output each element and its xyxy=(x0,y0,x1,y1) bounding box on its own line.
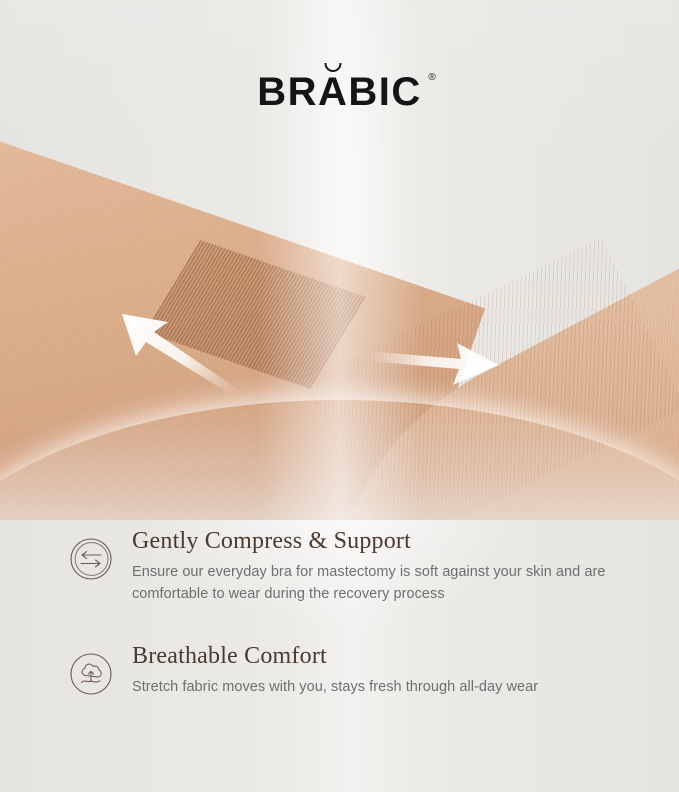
feature-description: Ensure our everyday bra for mastectomy i… xyxy=(132,561,639,605)
logo-accent-letter: A xyxy=(318,72,348,112)
product-feature-image: BRABIC® Gently Compress & Support Ensure… xyxy=(0,0,679,792)
registered-trademark-icon: ® xyxy=(428,73,435,83)
logo-text-part1: BR xyxy=(257,70,318,114)
feature-list: Gently Compress & Support Ensure our eve… xyxy=(0,524,679,732)
feature-description: Stretch fabric moves with you, stays fre… xyxy=(132,676,639,698)
brand-logo: BRABIC® xyxy=(0,72,679,112)
feature-text: Breathable Comfort Stretch fabric moves … xyxy=(132,639,639,698)
feature-title: Gently Compress & Support xyxy=(132,526,639,556)
logo-text-part2: BIC xyxy=(348,70,421,114)
feature-item: Gently Compress & Support Ensure our eve… xyxy=(0,524,679,605)
feature-item: Breathable Comfort Stretch fabric moves … xyxy=(0,639,679,698)
feature-text: Gently Compress & Support Ensure our eve… xyxy=(132,524,639,605)
feature-title: Breathable Comfort xyxy=(132,641,639,671)
brand-logo-text: BRABIC® xyxy=(257,72,422,112)
stretch-arrow-right-icon xyxy=(365,335,505,400)
stretch-arrow-left-icon xyxy=(110,300,260,400)
bidirectional-arrows-icon xyxy=(68,536,114,582)
breathable-cloud-icon xyxy=(68,651,114,697)
